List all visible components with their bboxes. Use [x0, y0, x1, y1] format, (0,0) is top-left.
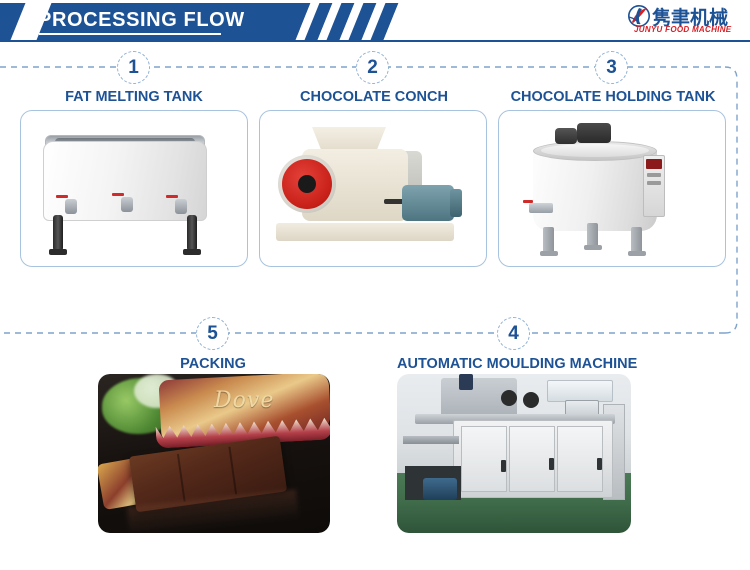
company-logo[interactable]: 隽聿机械 JUNYU FOOD MACHINE [626, 4, 746, 38]
step-number-5: 5 [207, 324, 218, 343]
step-label-automatic-moulding-machine: AUTOMATIC MOULDING MACHINE [397, 356, 629, 372]
step-badge-5[interactable]: 5 [196, 317, 229, 350]
chocolate-holding-tank-photo[interactable] [498, 110, 726, 267]
step-badge-3[interactable]: 3 [595, 51, 628, 84]
step-number-4: 4 [508, 324, 519, 343]
page-header: PROCESSING FLOW 隽聿机械 JUNYU FO [0, 0, 750, 42]
packing-photo[interactable]: Dove [98, 374, 330, 533]
step-badge-4[interactable]: 4 [497, 317, 530, 350]
processing-flow-page: PROCESSING FLOW 隽聿机械 JUNYU FO [0, 0, 750, 570]
header-bottom-rule [0, 40, 750, 42]
step-number-1: 1 [128, 58, 139, 77]
chocolate-conch-photo[interactable] [259, 110, 487, 267]
step-label-fat-melting-tank: FAT MELTING TANK [18, 89, 250, 105]
step-label-packing: PACKING [97, 356, 329, 372]
step-badge-2[interactable]: 2 [356, 51, 389, 84]
packing-brand-text: Dove [214, 388, 304, 414]
logo-english-name: JUNYU FOOD MACHINE [634, 25, 731, 34]
step-label-chocolate-conch: CHOCOLATE CONCH [258, 89, 490, 105]
automatic-moulding-machine-photo[interactable] [397, 374, 631, 533]
step-number-3: 3 [606, 58, 617, 77]
step-number-2: 2 [367, 58, 378, 77]
header-diagonal-stripes-icon [276, 3, 456, 40]
page-title-underline [39, 33, 221, 35]
fat-melting-tank-photo[interactable] [20, 110, 248, 267]
step-badge-1[interactable]: 1 [117, 51, 150, 84]
page-title: PROCESSING FLOW [38, 9, 245, 32]
step-label-chocolate-holding-tank: CHOCOLATE HOLDING TANK [497, 89, 729, 105]
